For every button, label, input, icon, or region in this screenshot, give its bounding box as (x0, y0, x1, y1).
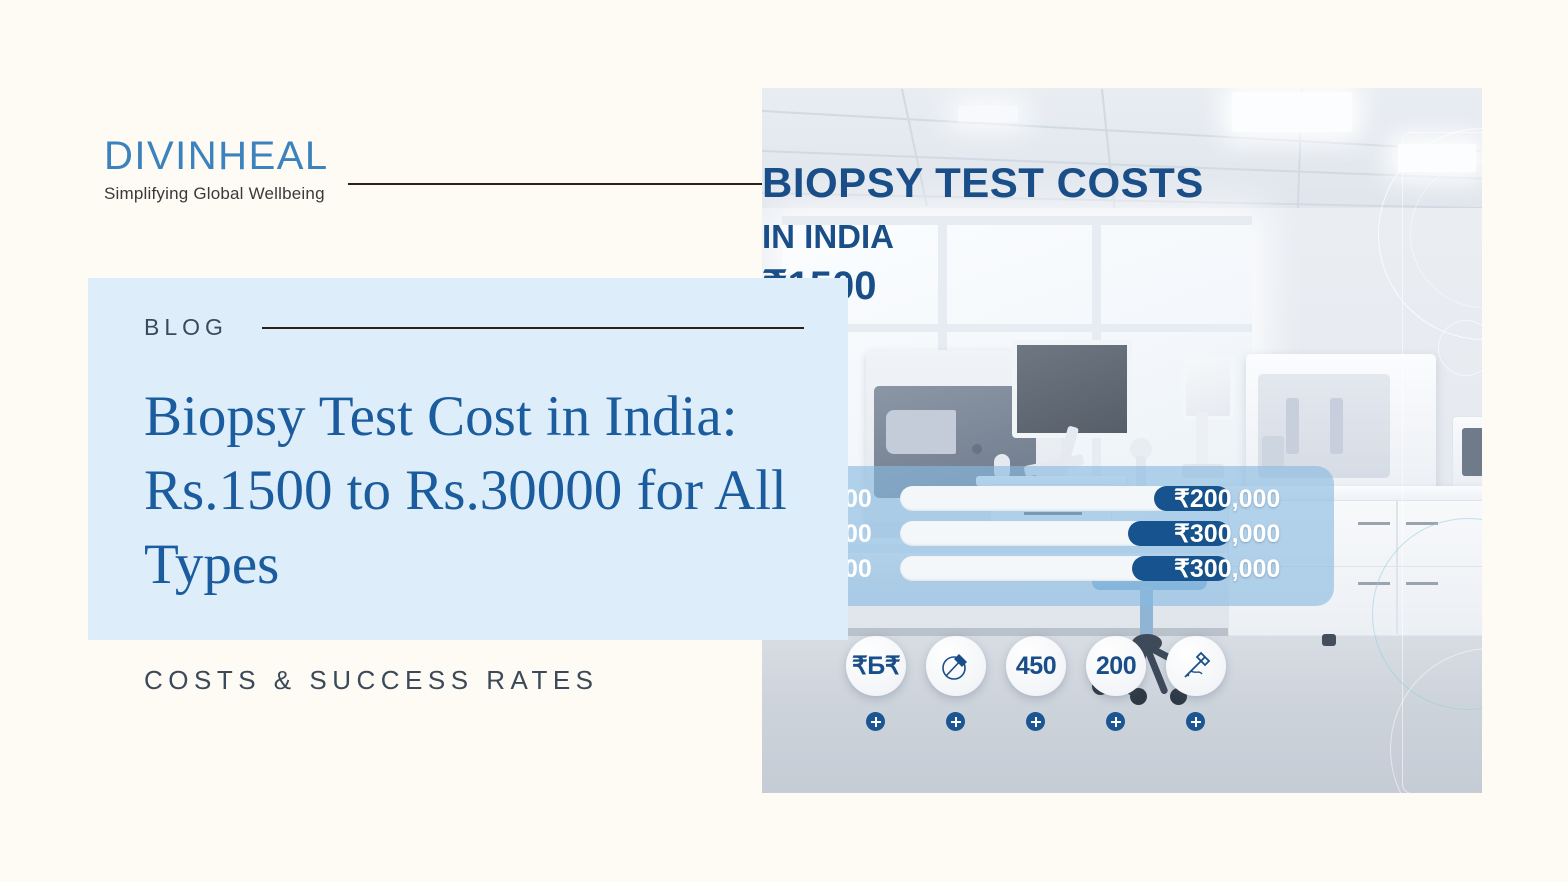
badge-plus-marker[interactable] (866, 712, 885, 731)
analyzer-vial (1262, 436, 1284, 468)
badge-450-label: 450 (1016, 652, 1056, 681)
badge-needle[interactable] (1166, 636, 1226, 696)
ceiling-light (958, 106, 1018, 122)
badge-450[interactable]: 450 (1006, 636, 1066, 696)
plus-icon (1031, 717, 1041, 727)
plus-icon (871, 717, 881, 727)
badge-plus-marker[interactable] (946, 712, 965, 731)
plus-icon (1111, 717, 1121, 727)
plus-icon (1191, 717, 1201, 727)
tablet-stand (1196, 412, 1208, 466)
analyzer-tray (886, 410, 956, 454)
bar-left-label: 00 (844, 485, 872, 514)
bar-left-label: 00 (844, 555, 872, 584)
brand-name: DIVINHEAL (104, 136, 354, 176)
overlay-headline: BIOPSY TEST COSTS (762, 162, 1242, 204)
analyzer-knob (972, 444, 982, 454)
bar-value: ₹200,000 (1174, 484, 1280, 514)
window-mullion (782, 324, 1252, 332)
bar-value: ₹300,000 (1174, 554, 1280, 584)
badge-currency[interactable]: ₹Б₹ (846, 636, 906, 696)
badge-200-label: 200 (1096, 652, 1136, 681)
bar-value: ₹300,000 (1174, 519, 1280, 549)
bar-left-label: 00 (844, 520, 872, 549)
cabinet-caster (1322, 634, 1336, 646)
lab-tablet (1182, 356, 1234, 420)
ceiling-light (1232, 92, 1352, 132)
syringe-circle-icon (939, 649, 973, 683)
brand-tagline: Simplifying Global Wellbeing (104, 184, 354, 204)
footer-subtitle: COSTS & SUCCESS RATES (144, 665, 599, 696)
cabinet-handle (1358, 522, 1390, 525)
badge-plus-marker[interactable] (1186, 712, 1205, 731)
badge-plus-marker[interactable] (1026, 712, 1045, 731)
blog-title-card: BLOG Biopsy Test Cost in India: Rs.1500 … (88, 278, 848, 640)
overlay-subhead: IN INDIA (762, 218, 894, 256)
blog-eyebrow-row: BLOG (144, 314, 804, 341)
needle-icon (1179, 649, 1213, 683)
badge-currency-label: ₹Б₹ (852, 651, 900, 681)
page-title: Biopsy Test Cost in India: Rs.1500 to Rs… (144, 380, 834, 602)
brand-logo[interactable]: DIVINHEAL Simplifying Global Wellbeing (104, 136, 354, 204)
plus-icon (951, 717, 961, 727)
poster-canvas: DIVINHEAL Simplifying Global Wellbeing (0, 0, 1568, 882)
logo-divider-line (348, 183, 762, 185)
monitor-screen (1012, 340, 1132, 438)
analyzer-probe (1286, 398, 1299, 454)
badge-syringe-circle[interactable] (926, 636, 986, 696)
badge-plus-marker[interactable] (1106, 712, 1125, 731)
badge-200[interactable]: 200 (1086, 636, 1146, 696)
blog-eyebrow-label: BLOG (144, 314, 228, 341)
blog-divider-line (262, 327, 804, 329)
lab-photo: BIOPSY TEST COSTS IN INDIA ₹1500 00 ₹200… (762, 88, 1482, 793)
analyzer-probe (1330, 398, 1343, 454)
